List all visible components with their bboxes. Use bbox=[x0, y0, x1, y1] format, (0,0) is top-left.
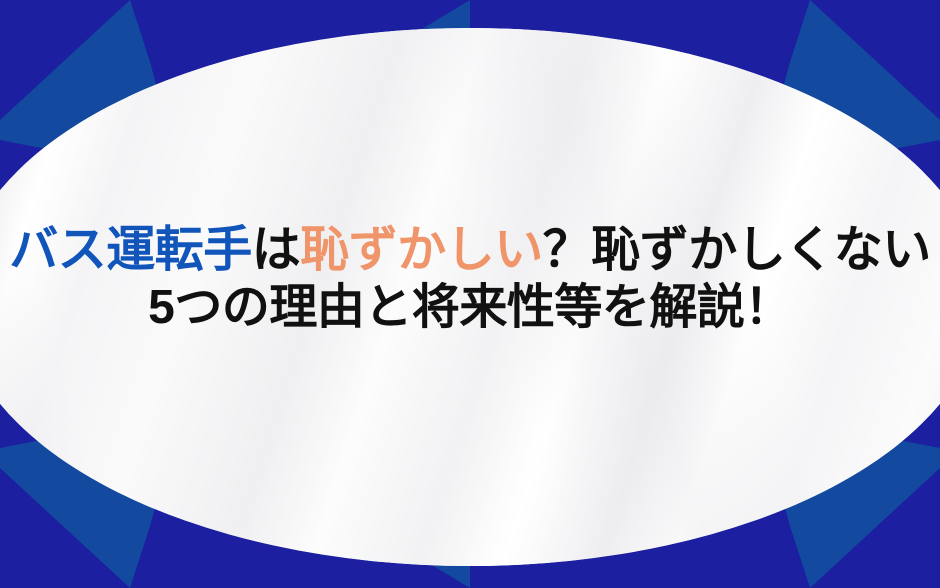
title-line-2: 5つの理由と将来性等を解説！ bbox=[0, 280, 940, 337]
thumbnail-card: バス運転手は恥ずかしい？恥ずかしくない 5つの理由と将来性等を解説！ bbox=[0, 0, 940, 588]
title-line-1: バス運転手は恥ずかしい？恥ずかしくない bbox=[0, 222, 940, 280]
title-segment-subtitle: 5つの理由と将来性等を解説！ bbox=[148, 281, 792, 334]
title-segment-blue: バス運転手 bbox=[9, 223, 252, 277]
title-segment-particle: は bbox=[252, 223, 301, 277]
title-segment-tail: ？恥ずかしくない bbox=[543, 223, 931, 277]
title-segment-orange: 恥ずかしい bbox=[300, 223, 543, 277]
title-block: バス運転手は恥ずかしい？恥ずかしくない 5つの理由と将来性等を解説！ bbox=[0, 222, 940, 336]
